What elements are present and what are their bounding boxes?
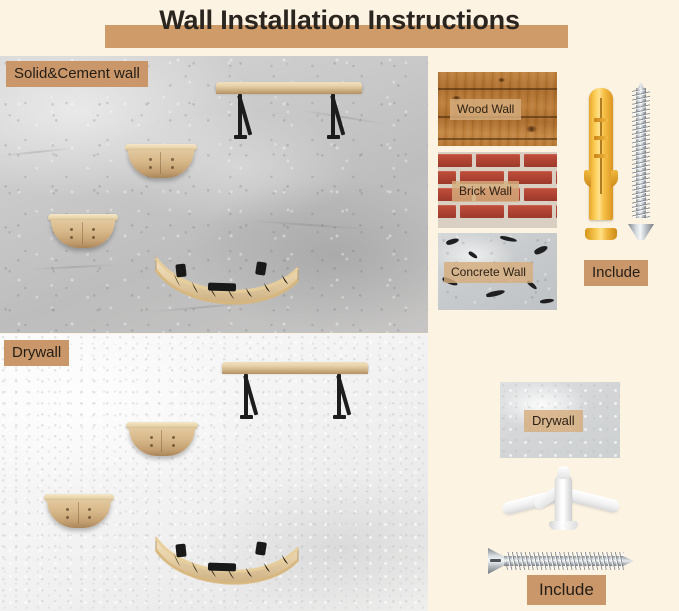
toggle-collar <box>549 521 578 530</box>
concrete-blot <box>540 298 554 304</box>
concrete-blot <box>468 251 479 260</box>
anchor-wing-right <box>611 169 618 188</box>
ramp-cleat <box>208 283 236 292</box>
half-moon-step <box>125 144 197 180</box>
step-mount-hole <box>172 436 175 439</box>
infographic-root: Wall Installation Instructions <box>0 0 679 611</box>
step-mount-hole <box>66 516 69 519</box>
wood-plank-seam <box>438 138 557 140</box>
concrete-blot <box>533 244 548 256</box>
brick-unit <box>438 205 456 218</box>
step-seam <box>82 222 83 244</box>
wood-screw-vertical <box>628 88 654 240</box>
brick-unit <box>524 188 557 201</box>
curved-climbing-ramp <box>152 536 302 588</box>
ramp-cleat <box>175 544 186 558</box>
screw-head-slot <box>490 559 501 562</box>
anchor-expansion-slot <box>600 98 602 194</box>
swatch-drywall: Drywall <box>500 382 620 458</box>
swatch-brick-wall: Brick Wall <box>438 152 557 228</box>
photo-drywall: Drywall <box>0 334 428 611</box>
anchor-barb <box>594 154 608 158</box>
step-mount-hole <box>70 228 73 231</box>
step-seam <box>78 502 79 524</box>
brick-unit <box>508 205 552 218</box>
wall-scuff <box>30 264 120 271</box>
page-title: Wall Installation Instructions <box>0 5 679 36</box>
step-mount-hole <box>150 436 153 439</box>
step-mount-hole <box>88 508 91 511</box>
label-concrete-wall: Concrete Wall <box>444 262 533 283</box>
step-mount-hole <box>171 158 174 161</box>
wall-scuff <box>2 147 72 156</box>
step-mount-hole <box>171 166 174 169</box>
step-seam <box>161 430 162 452</box>
label-wood-wall: Wood Wall <box>450 99 521 120</box>
ramp-shape <box>152 256 302 308</box>
wood-plank-seam <box>438 88 557 90</box>
bracket-wall-shelf <box>216 82 362 144</box>
photo-solid-cement-wall: Solid&Cement wall <box>0 56 428 333</box>
label-include-solid-wall: Include <box>584 260 648 286</box>
label-solid-cement-wall: Solid&Cement wall <box>6 61 148 87</box>
anchor-barb <box>594 136 608 140</box>
brick-unit <box>556 171 557 184</box>
wood-screw-horizontal <box>488 548 634 574</box>
curved-climbing-ramp <box>152 256 302 308</box>
label-drywall-swatch: Drywall <box>524 410 583 432</box>
half-moon-step <box>126 422 198 458</box>
step-body <box>47 500 111 528</box>
screw-tip <box>623 556 634 566</box>
step-mount-hole <box>172 444 175 447</box>
step-mount-hole <box>150 444 153 447</box>
anchor-collar <box>585 228 617 240</box>
screw-head <box>628 224 654 240</box>
concrete-blot <box>446 237 460 246</box>
half-moon-step <box>44 494 114 530</box>
concrete-blot <box>486 289 506 298</box>
step-seam <box>160 152 161 174</box>
wood-knot <box>526 126 537 132</box>
anchor-barb <box>594 118 608 122</box>
step-mount-hole <box>149 158 152 161</box>
brick-unit <box>460 205 504 218</box>
ramp-cleat <box>255 261 267 275</box>
toggle-tip <box>557 466 570 479</box>
brick-unit <box>524 154 557 167</box>
shelf-board <box>216 82 362 91</box>
white-toggle-anchor <box>505 463 620 535</box>
label-drywall-panel: Drywall <box>4 340 69 366</box>
bracket-wall-shelf <box>222 362 368 424</box>
yellow-expansion-anchor <box>584 88 618 240</box>
step-mount-hole <box>92 228 95 231</box>
ramp-cleat <box>255 541 267 555</box>
step-mount-hole <box>92 236 95 239</box>
toggle-body <box>555 475 572 525</box>
step-mount-hole <box>149 166 152 169</box>
screw-threads <box>506 552 624 570</box>
shelf-bracket-left-foot <box>234 135 247 139</box>
anchor-wing-left <box>584 169 591 188</box>
step-mount-hole <box>88 516 91 519</box>
label-include-drywall: Include <box>527 575 606 605</box>
swatch-concrete-wall: Concrete Wall <box>438 233 557 310</box>
step-body <box>129 428 195 456</box>
step-body <box>128 150 194 178</box>
ramp-cleat <box>175 264 186 278</box>
label-brick-wall: Brick Wall <box>452 181 519 202</box>
concrete-blot <box>500 235 517 242</box>
step-body <box>51 220 115 248</box>
brick-unit <box>476 154 520 167</box>
shelf-board <box>222 362 368 371</box>
shelf-bracket-left-foot <box>240 415 253 419</box>
swatch-wood-wall: Wood Wall <box>438 72 557 146</box>
step-mount-hole <box>70 236 73 239</box>
half-moon-step <box>48 214 118 250</box>
screw-threads <box>632 90 650 218</box>
wood-knot <box>498 78 505 82</box>
shelf-bracket-right-foot <box>327 135 340 139</box>
page-title-block: Wall Installation Instructions <box>0 2 679 54</box>
brick-unit <box>556 205 557 218</box>
ramp-cleat <box>208 563 236 572</box>
brick-unit <box>438 154 472 167</box>
step-mount-hole <box>66 508 69 511</box>
wall-scuff <box>250 220 370 230</box>
shelf-bracket-right-foot <box>333 415 346 419</box>
ramp-shape <box>152 536 302 588</box>
